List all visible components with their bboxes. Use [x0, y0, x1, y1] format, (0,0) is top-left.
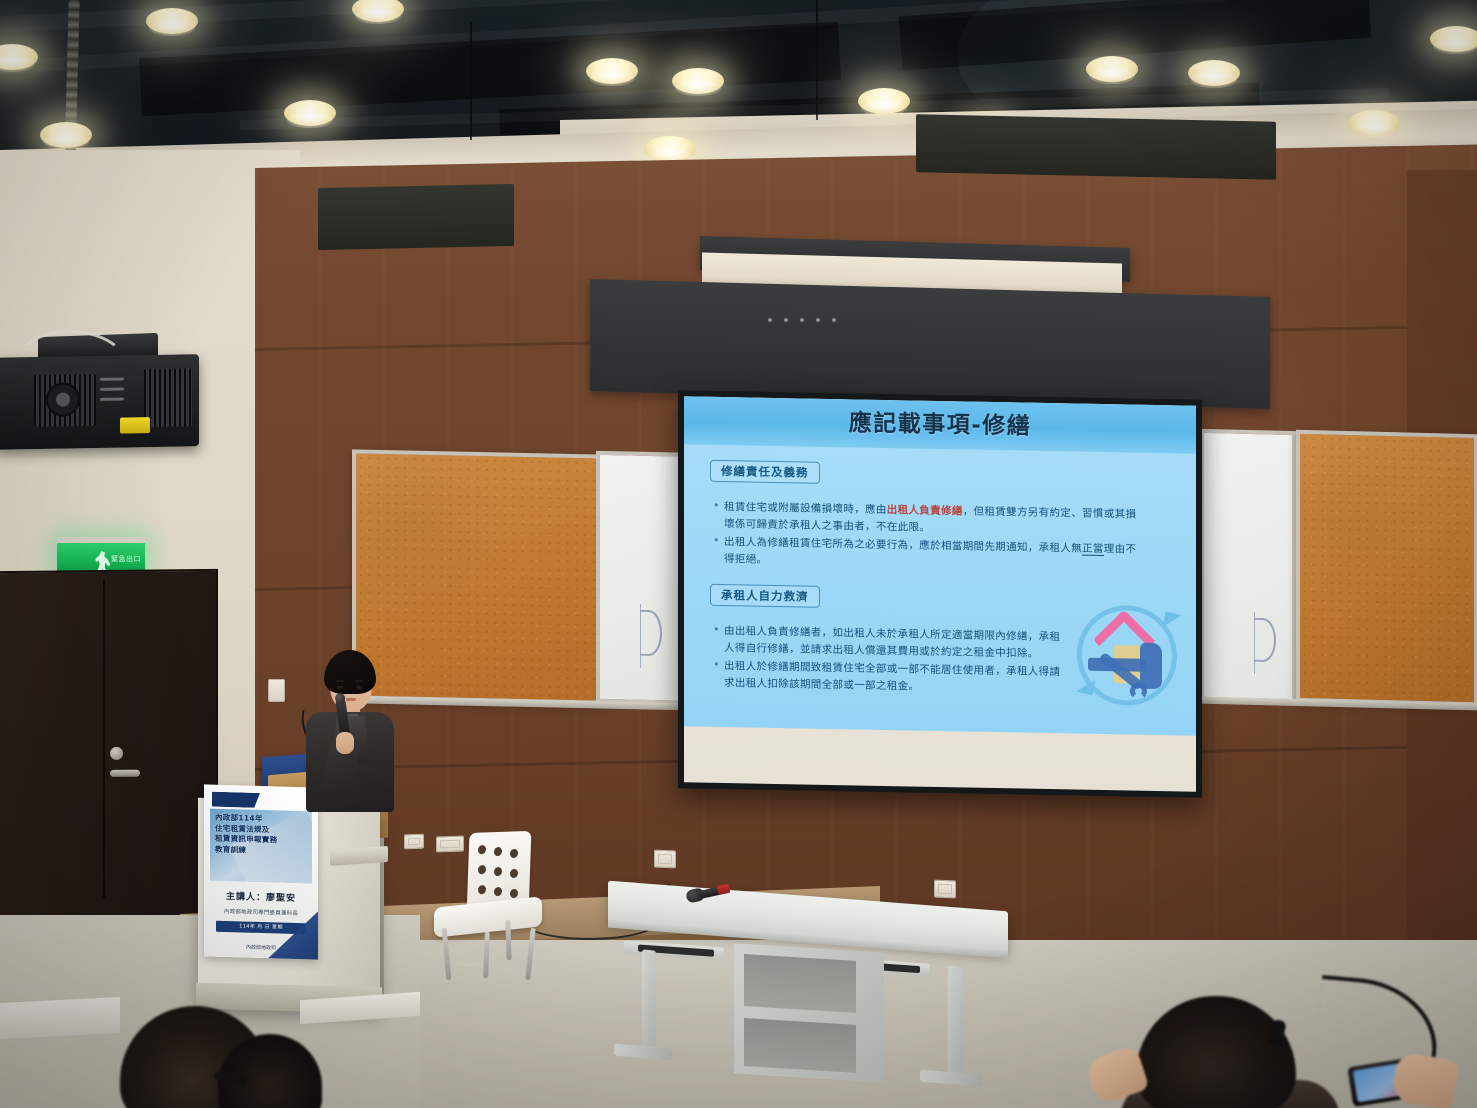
panel-indicator-dots [768, 318, 836, 322]
poster-org: 內政部地政司專門委員兼科長 [204, 906, 318, 917]
slide-section-chip-1: 修繕責任及義務 [710, 460, 820, 484]
poster-heading: 內政部114年住宅租賃法規及租賃資訊申報實務教育訓練 [215, 813, 277, 857]
audience-hand-right [1390, 1051, 1460, 1108]
chair-leg [483, 932, 490, 978]
white-chair[interactable] [432, 832, 542, 980]
chair-hole-pattern [478, 843, 520, 904]
desk-leg-left [642, 949, 656, 1058]
presentation-desk[interactable] [608, 888, 1018, 1093]
presenter-eyebrow [336, 680, 344, 682]
desk-leg-right [948, 965, 963, 1082]
whiteboard-right [1200, 429, 1296, 703]
slide-bullet: 出租人為修繕租賃住宅所為之必要行為，應於相當期間先期通知，承租人無正當理由不得拒… [712, 534, 1142, 575]
presenter-hand [336, 732, 354, 754]
wall-speaker-right [916, 114, 1276, 180]
poster-speaker: 主講人：廖聖安 [204, 888, 318, 904]
wall-outlet-1[interactable] [404, 834, 424, 850]
light-switch[interactable] [268, 679, 285, 702]
slide-bullets-1: 租賃住宅或附屬設備損壞時，應由出租人負責修繕，但租賃雙方另有約定、習慣或其損壞係… [712, 499, 1142, 577]
ceiling-cord-2 [816, 0, 852, 120]
ceiling-light [1188, 60, 1240, 86]
presenter-eye [356, 686, 362, 689]
presenter-eye [337, 686, 343, 689]
poster-hero-image: 內政部114年住宅租賃法規及租賃資訊申報實務教育訓練 [210, 809, 312, 884]
acoustic-panel-main [590, 279, 1270, 409]
slide: 應記載事項-修繕 修繕責任及義務 租賃住宅或附屬設備損壞時，應由出租人負責修繕，… [684, 396, 1196, 735]
slide-bullet: 出租人於修繕期間致租賃住宅全部或一部不能居住使用者，承租人得請求出租人扣除該期間… [712, 658, 1064, 697]
ceiling-light [586, 58, 638, 84]
whiteboard-doodle-line [640, 604, 641, 668]
slide-bullets-2: 由出租人負責修繕者，如出租人未於承租人所定適當期限內修繕，承租人得自行修繕，並請… [712, 623, 1064, 699]
ceiling-light [1430, 26, 1477, 52]
house-repair-icon [1072, 599, 1182, 711]
ceiling-light [858, 88, 910, 114]
presenter-hair [324, 650, 376, 694]
ceiling-light [672, 68, 724, 94]
front-row-table-left [0, 997, 120, 1039]
door-lock-icon[interactable] [110, 747, 123, 760]
ministry-logo-icon [212, 792, 260, 808]
ceiling-light [644, 136, 696, 162]
slide-bullet: 由出租人負責修繕者，如出租人未於承租人所定適當期限內修繕，承租人得自行修繕，並請… [712, 623, 1064, 662]
keyboard-tray-left[interactable] [624, 941, 724, 961]
ceiling-light [284, 100, 336, 126]
desk-leg-right-foot [920, 1070, 982, 1086]
ceiling-light [1348, 110, 1400, 136]
corkboard-right [1296, 430, 1477, 706]
ceiling-light [1086, 56, 1138, 82]
ceiling-light [40, 122, 92, 148]
slide-bullet: 租賃住宅或附屬設備損壞時，應由出租人負責修繕，但租賃雙方另有約定、習慣或其損壞係… [712, 499, 1142, 540]
ceiling-projector [0, 354, 199, 450]
whiteboard-doodle-line-right [1254, 612, 1255, 674]
screen-surface: 應記載事項-修繕 修繕責任及義務 租賃住宅或附屬設備損壞時，應由出租人負責修繕，… [684, 396, 1196, 791]
lecture-hall-scene: 緊急出口 應記載事項-修繕 修繕責任及義務 租賃住宅 [0, 0, 1477, 1108]
exit-sign-label: 緊急出口 [111, 555, 141, 563]
presenter-mouth [346, 698, 356, 701]
ceiling-light [146, 8, 198, 34]
desk-shelf-unit [734, 943, 884, 1082]
chair-leg [525, 928, 535, 980]
entrance-door[interactable] [0, 569, 218, 921]
presenter-eyebrow [355, 680, 363, 682]
presenter [300, 650, 396, 810]
ceiling-light [0, 44, 38, 70]
desk-leg-left-foot [614, 1043, 672, 1060]
ceiling-light [352, 0, 404, 22]
event-poster: 內政部114年住宅租賃法規及租賃資訊申報實務教育訓練 主講人：廖聖安 內政部地政… [204, 784, 318, 959]
door-handle[interactable] [110, 770, 140, 777]
wall-speaker-left [318, 184, 514, 250]
slide-section-chip-2: 承租人自力救濟 [710, 584, 820, 608]
poster-date: 114年 月 日 星期 [216, 921, 306, 935]
door-seam [103, 580, 105, 898]
projection-screen: 應記載事項-修繕 修繕責任及義務 租賃住宅或附屬設備損壞時，應由出租人負責修繕，… [678, 390, 1202, 798]
